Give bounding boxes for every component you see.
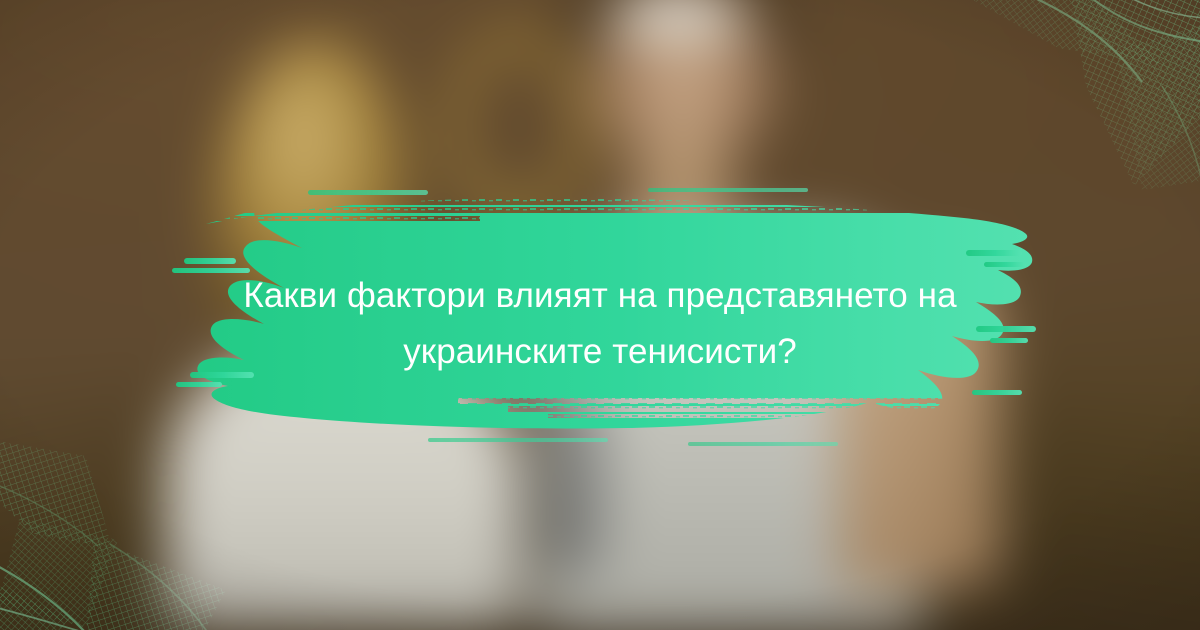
card-headline: Какви фактори влияят на представянето на…	[150, 268, 1050, 380]
social-share-card: Какви фактори влияят на представянето на…	[0, 0, 1200, 630]
